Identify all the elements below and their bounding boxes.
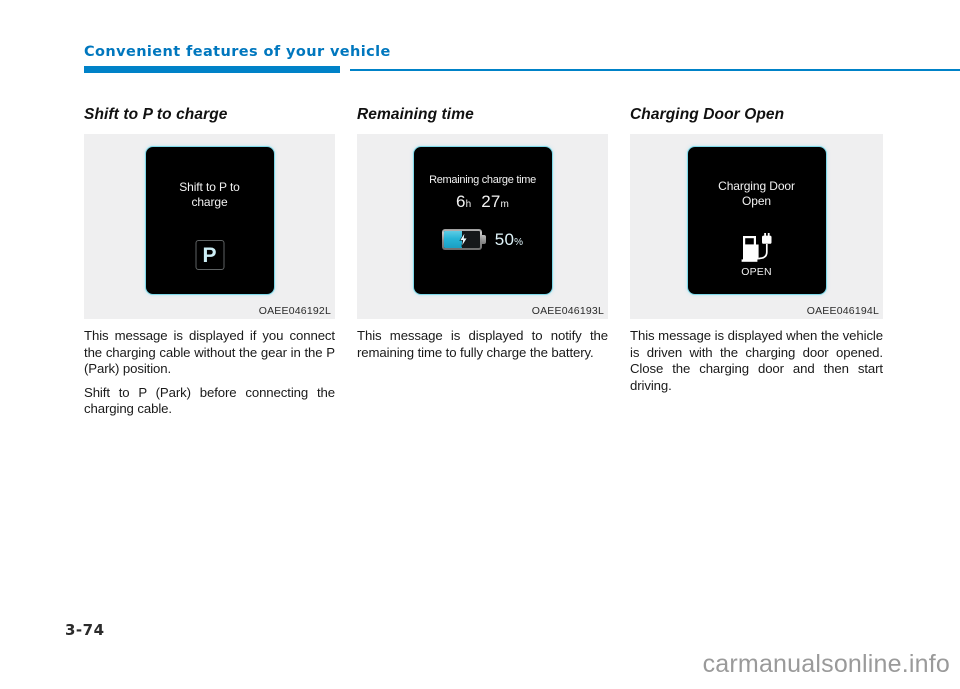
section-remaining-time: Remaining time Remaining charge time 6h … xyxy=(357,106,608,418)
page-number: 3-74 xyxy=(65,621,105,639)
cluster-display-charging-door: Charging Door Open OPEN xyxy=(687,146,827,295)
content-columns: Shift to P to charge Shift to P to charg… xyxy=(84,106,879,418)
figure-caption: OAEE046192L xyxy=(259,305,331,317)
header-accent-bar xyxy=(84,66,340,73)
park-gear-icon: P xyxy=(195,240,224,270)
figure-caption: OAEE046194L xyxy=(807,305,879,317)
figure-shift-to-p: Shift to P to charge P OAEE046192L xyxy=(84,134,335,319)
body-paragraph: This message is displayed if you connect… xyxy=(84,328,335,378)
minutes-value: 27 xyxy=(481,192,500,211)
battery-status-row: 50% xyxy=(414,229,552,250)
page-header: Convenient features of your vehicle xyxy=(0,0,960,80)
body-paragraph: Shift to P (Park) before connecting the … xyxy=(84,385,335,418)
display-message-line1: Charging Door xyxy=(688,179,826,194)
percent-value: 50 xyxy=(495,230,514,249)
display-message-line2: charge xyxy=(146,195,274,210)
display-message: Charging Door Open xyxy=(688,179,826,210)
figure-charging-door-open: Charging Door Open OPEN xyxy=(630,134,883,319)
hours-unit: h xyxy=(466,199,472,210)
section-heading: Remaining time xyxy=(357,106,608,123)
charging-port-plug-icon xyxy=(739,233,775,263)
figure-remaining-time: Remaining charge time 6h 27m xyxy=(357,134,608,319)
battery-icon xyxy=(442,229,486,250)
section-heading: Charging Door Open xyxy=(630,106,883,123)
page-title: Convenient features of your vehicle xyxy=(84,45,391,60)
lightning-bolt-icon xyxy=(459,232,468,247)
section-shift-to-p: Shift to P to charge Shift to P to charg… xyxy=(84,106,335,418)
cluster-display-shift-to-p: Shift to P to charge P xyxy=(145,146,275,295)
body-paragraph: This message is displayed to notify the … xyxy=(357,328,608,361)
site-watermark: carmanualsonline.info xyxy=(703,650,950,679)
display-title: Remaining charge time xyxy=(414,173,552,187)
display-message-line2: Open xyxy=(688,194,826,209)
section-heading: Shift to P to charge xyxy=(84,106,335,123)
section-charging-door-open: Charging Door Open Charging Door Open xyxy=(630,106,883,418)
hours-value: 6 xyxy=(456,192,466,211)
remaining-time-value: 6h 27m xyxy=(414,191,552,213)
display-message-line1: Shift to P to xyxy=(146,180,274,195)
battery-percent: 50% xyxy=(495,230,523,250)
door-status-label: OPEN xyxy=(688,266,826,278)
header-rule-line xyxy=(350,69,960,71)
minutes-unit: m xyxy=(501,199,510,210)
cluster-display-remaining-time: Remaining charge time 6h 27m xyxy=(413,146,553,295)
percent-unit: % xyxy=(514,237,523,248)
body-paragraph: This message is displayed when the vehic… xyxy=(630,328,883,394)
display-message: Shift to P to charge xyxy=(146,180,274,211)
battery-terminal-cap xyxy=(482,235,486,244)
figure-caption: OAEE046193L xyxy=(532,305,604,317)
